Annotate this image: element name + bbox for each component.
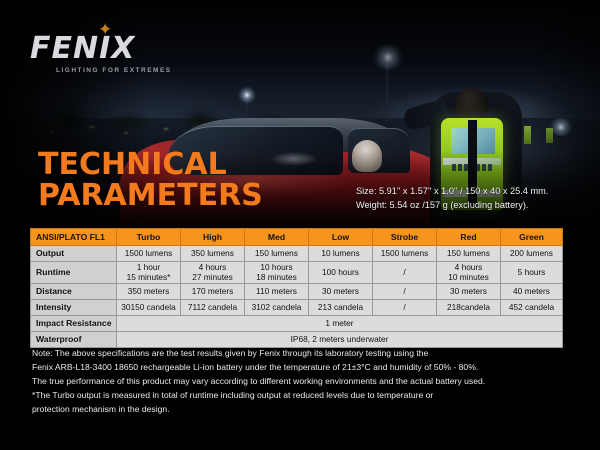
row-label-runtime: Runtime — [31, 262, 117, 284]
cell-output-green: 200 lumens — [501, 246, 563, 262]
cell-distance-red: 30 meters — [437, 284, 501, 300]
note-line-2: Fenix ARB-L18-3400 18650 rechargeable Li… — [32, 361, 572, 375]
cell-runtime-green: 5 hours — [501, 262, 563, 284]
cell-intensity-strobe: / — [373, 300, 437, 316]
brand-logo: FENIX ✦ LIGHTING FOR EXTREMES — [30, 34, 172, 74]
cell-distance-high: 170 meters — [181, 284, 245, 300]
table-row: Waterproof IP68, 2 meters underwater — [31, 332, 563, 348]
cell-intensity-red: 218candela — [437, 300, 501, 316]
column-header-turbo: Turbo — [117, 229, 181, 246]
cell-runtime-turbo: 1 hour15 minutes* — [117, 262, 181, 284]
note-line-4: *The Turbo output is measured in total o… — [32, 389, 572, 403]
product-spec-page: FENIX ✦ LIGHTING FOR EXTREMES TECHNICAL … — [0, 0, 600, 450]
cell-runtime-strobe: / — [373, 262, 437, 284]
table-header: ANSI/PLATO FL1 Turbo High Med Low Strobe… — [31, 229, 563, 246]
column-header-med: Med — [245, 229, 309, 246]
brand-tagline: LIGHTING FOR EXTREMES — [56, 67, 172, 74]
page-title-line-1: TECHNICAL — [38, 150, 263, 181]
row-label-output: Output — [31, 246, 117, 262]
cell-intensity-turbo: 30150 candela — [117, 300, 181, 316]
table-row: Output 1500 lumens 350 lumens 150 lumens… — [31, 246, 563, 262]
cell-output-low: 10 lumens — [309, 246, 373, 262]
cell-distance-turbo: 350 meters — [117, 284, 181, 300]
page-title-line-2: PARAMETERS — [38, 181, 263, 212]
note-line-5: protection mechanism in the design. — [32, 403, 572, 417]
cell-runtime-low: 100 hours — [309, 262, 373, 284]
star-icon: ✦ — [98, 21, 112, 38]
cell-distance-green: 40 meters — [501, 284, 563, 300]
footnotes: Note: The above specifications are the t… — [32, 347, 572, 417]
cell-output-high: 350 lumens — [181, 246, 245, 262]
table-row: Impact Resistance 1 meter — [31, 316, 563, 332]
row-label-impact-resistance: Impact Resistance — [31, 316, 117, 332]
cell-output-turbo: 1500 lumens — [117, 246, 181, 262]
cell-runtime-med: 10 hours18 minutes — [245, 262, 309, 284]
cell-output-strobe: 1500 lumens — [373, 246, 437, 262]
cell-distance-low: 30 meters — [309, 284, 373, 300]
column-header-ansi: ANSI/PLATO FL1 — [31, 229, 117, 246]
cell-runtime-high: 4 hours27 minutes — [181, 262, 245, 284]
cell-impact-resistance-value: 1 meter — [117, 316, 563, 332]
table-row: Intensity 30150 candela 7112 candela 310… — [31, 300, 563, 316]
cell-runtime-red: 4 hours10 minutes — [437, 262, 501, 284]
cell-distance-med: 110 meters — [245, 284, 309, 300]
page-title: TECHNICAL PARAMETERS — [38, 150, 263, 212]
table-row: Distance 350 meters 170 meters 110 meter… — [31, 284, 563, 300]
column-header-red: Red — [437, 229, 501, 246]
cell-intensity-low: 213 candela — [309, 300, 373, 316]
row-label-intensity: Intensity — [31, 300, 117, 316]
size-text: Size: 5.91'' x 1.57'' x 1.0'' / 150 x 40… — [356, 185, 548, 199]
column-header-low: Low — [309, 229, 373, 246]
table-body: Output 1500 lumens 350 lumens 150 lumens… — [31, 246, 563, 348]
note-line-1: Note: The above specifications are the t… — [32, 347, 572, 361]
row-label-waterproof: Waterproof — [31, 332, 117, 348]
cell-intensity-med: 3102 candela — [245, 300, 309, 316]
column-header-strobe: Strobe — [373, 229, 437, 246]
cell-output-med: 150 lumens — [245, 246, 309, 262]
cell-intensity-high: 7112 candela — [181, 300, 245, 316]
cell-intensity-green: 452 candela — [501, 300, 563, 316]
dimensions-block: Size: 5.91'' x 1.57'' x 1.0'' / 150 x 40… — [356, 185, 548, 213]
column-header-green: Green — [501, 229, 563, 246]
column-header-high: High — [181, 229, 245, 246]
row-label-distance: Distance — [31, 284, 117, 300]
note-line-3: The true performance of this product may… — [32, 375, 572, 389]
specification-table-container: ANSI/PLATO FL1 Turbo High Med Low Strobe… — [30, 228, 562, 348]
cell-output-red: 150 lumens — [437, 246, 501, 262]
cell-waterproof-value: IP68, 2 meters underwater — [117, 332, 563, 348]
specification-table: ANSI/PLATO FL1 Turbo High Med Low Strobe… — [30, 228, 563, 348]
weight-text: Weight: 5.54 oz /157 g (excluding batter… — [356, 199, 548, 213]
table-row: Runtime 1 hour15 minutes* 4 hours27 minu… — [31, 262, 563, 284]
table-header-row: ANSI/PLATO FL1 Turbo High Med Low Strobe… — [31, 229, 563, 246]
cell-distance-strobe: / — [373, 284, 437, 300]
